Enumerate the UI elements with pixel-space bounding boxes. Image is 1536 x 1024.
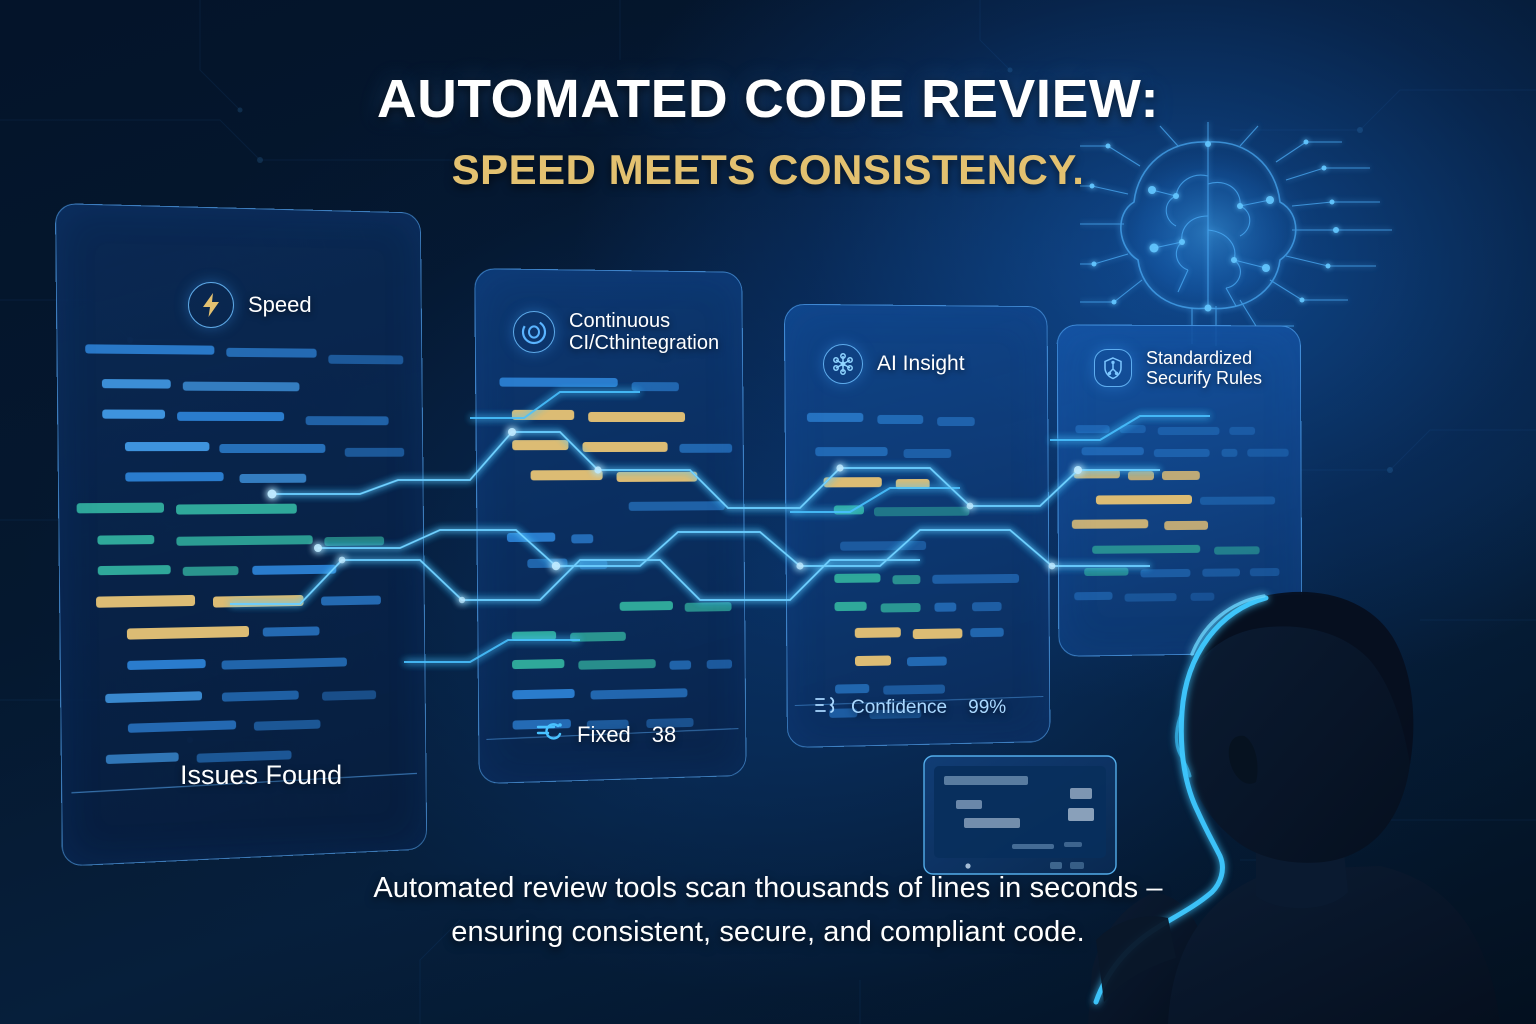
panel-title-line1: Standardized [1146,348,1262,368]
lightning-bolt-icon [188,282,234,328]
panel-title-line2: CI/Cthintegration [569,332,719,354]
shield-branch-icon [1094,349,1132,387]
person-silhouette-back-view [1080,540,1536,1024]
panel-header-standardized-security-rules: Standardized Securify Rules [1094,348,1262,388]
panel-title: AI Insight [877,352,965,376]
stat-fixed: Fixed 38 [536,720,676,749]
page-subtitle: SPEED MEETS CONSISTENCY. [0,146,1536,194]
panel-header-continuous-integration: Continuous CI/Cthintegration [513,310,719,355]
panel-header-speed: Speed [188,282,312,328]
stat-confidence: Confidence 99% [814,695,1006,720]
stat-label: Issues Found [180,760,342,791]
stat-label: Fixed [577,722,631,748]
stat-label: Confidence [851,697,947,719]
refresh-arrow-icon [536,720,566,749]
stat-value: 38 [652,722,676,748]
stat-value: 99% [968,697,1006,719]
panel-title: Continuous CI/Cthintegration [569,310,719,355]
neural-flower-icon [823,344,863,384]
page-title: AUTOMATED CODE REVIEW: [0,68,1536,130]
panel-title: Standardized Securify Rules [1146,348,1262,388]
panel-header-ai-insight: AI Insight [823,344,965,384]
list-scan-icon [814,695,840,720]
circle-target-icon [513,311,555,353]
panel-title-line2: Securify Rules [1146,368,1262,388]
panel-title-line1: Continuous [569,310,719,332]
infographic-canvas: Speed Continuous CI/Cthintegration [0,0,1536,1024]
stat-issues-found: Issues Found [180,760,342,791]
panel-title: Speed [248,293,312,318]
